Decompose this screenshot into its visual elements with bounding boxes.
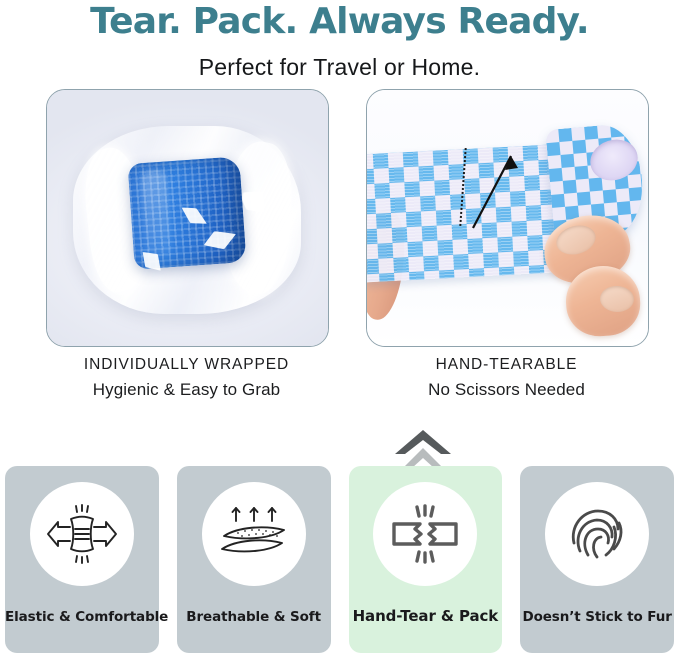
caption-individually-wrapped: INDIVIDUALLY WRAPPED Hygienic & Easy to … — [46, 355, 327, 401]
feature-card-elastic-comfortable[interactable]: Elastic & Comfortable — [5, 466, 159, 653]
photo-captions: INDIVIDUALLY WRAPPED Hygienic & Easy to … — [0, 355, 679, 410]
tear-direction-arrow-icon — [465, 144, 555, 234]
tear-apart-icon — [388, 502, 462, 566]
caption-subtitle: Hygienic & Easy to Grab — [46, 379, 327, 401]
photo-row — [0, 89, 679, 347]
icon-circle — [30, 482, 134, 586]
hand-tearable-photo-image — [367, 90, 648, 346]
page-subtitle: Perfect for Travel or Home. — [0, 52, 679, 82]
hand-tearable-photo — [366, 89, 649, 347]
individually-wrapped-photo — [46, 89, 329, 347]
feature-card-hand-tear-pack[interactable]: Hand-Tear & Pack — [349, 466, 503, 653]
double-chevron-up-icon — [393, 428, 453, 470]
breathable-layers-icon — [218, 503, 290, 565]
icon-circle — [202, 482, 306, 586]
fur-swirl-icon — [564, 503, 630, 565]
caption-title: HAND-TEARABLE — [366, 355, 647, 375]
feature-card-label: Elastic & Comfortable — [5, 609, 159, 625]
icon-circle — [373, 482, 477, 586]
page-headline: Tear. Pack. Always Ready. — [0, 0, 679, 44]
feature-card-label: Hand-Tear & Pack — [349, 607, 503, 625]
caption-hand-tearable: HAND-TEARABLE No Scissors Needed — [366, 355, 647, 401]
elastic-stretch-icon — [46, 503, 118, 565]
feature-card-row: Elastic & Comfortable — [5, 466, 674, 653]
individually-wrapped-photo-image — [47, 90, 328, 346]
feature-card-doesnt-stick-to-fur[interactable]: Doesn’t Stick to Fur — [520, 466, 674, 653]
caption-title: INDIVIDUALLY WRAPPED — [46, 355, 327, 375]
feature-card-breathable-soft[interactable]: Breathable & Soft — [177, 466, 331, 653]
feature-card-label: Breathable & Soft — [177, 609, 331, 625]
caption-subtitle: No Scissors Needed — [366, 379, 647, 401]
icon-circle — [545, 482, 649, 586]
feature-card-label: Doesn’t Stick to Fur — [520, 609, 674, 625]
